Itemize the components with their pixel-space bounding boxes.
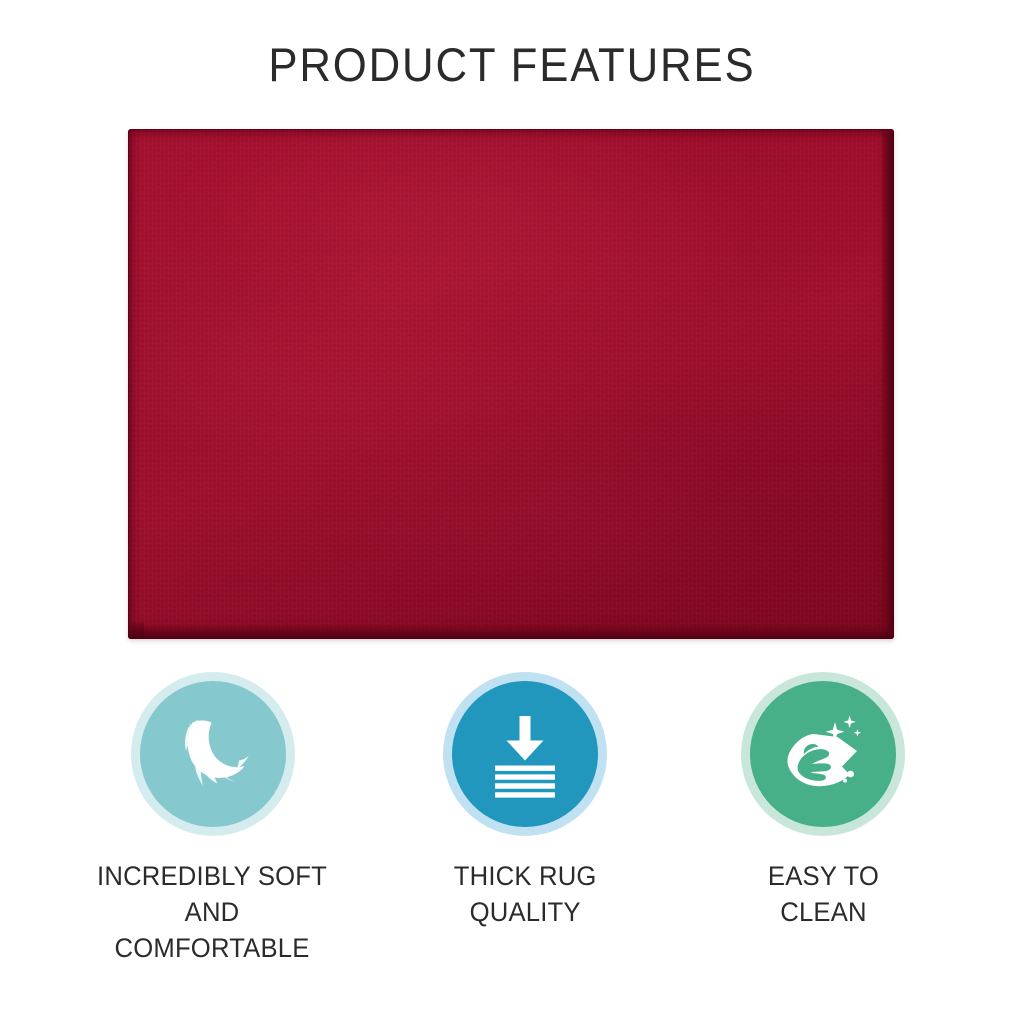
feature-badge-clean	[741, 672, 905, 836]
product-image	[128, 129, 894, 639]
page-title: PRODUCT FEATURES	[268, 41, 755, 88]
feature-item-soft: INCREDIBLY SOFT AND COMFORTABLE	[60, 672, 365, 967]
hand-wiping-cloth-sparkle-icon	[771, 702, 875, 806]
arrow-down-onto-layers-icon	[473, 702, 577, 806]
feature-caption-soft: INCREDIBLY SOFT AND COMFORTABLE	[98, 858, 328, 967]
rug-photo	[128, 129, 894, 639]
page-title-container: PRODUCT FEATURES	[0, 41, 1024, 88]
feather-icon	[161, 702, 265, 806]
feature-item-clean: EASY TO CLEAN	[683, 672, 963, 930]
feature-item-thickness: THICK RUG QUALITY	[375, 672, 675, 930]
feature-list: INCREDIBLY SOFT AND COMFORTABLE	[60, 672, 964, 967]
feature-badge-soft	[131, 672, 295, 836]
feature-caption-clean: EASY TO CLEAN	[767, 858, 878, 930]
rug-edge-shading	[128, 129, 894, 639]
product-features-infographic: PRODUCT FEATURES	[0, 0, 1024, 1024]
feature-caption-thickness: THICK RUG QUALITY	[454, 858, 597, 930]
feature-badge-thickness	[443, 672, 607, 836]
